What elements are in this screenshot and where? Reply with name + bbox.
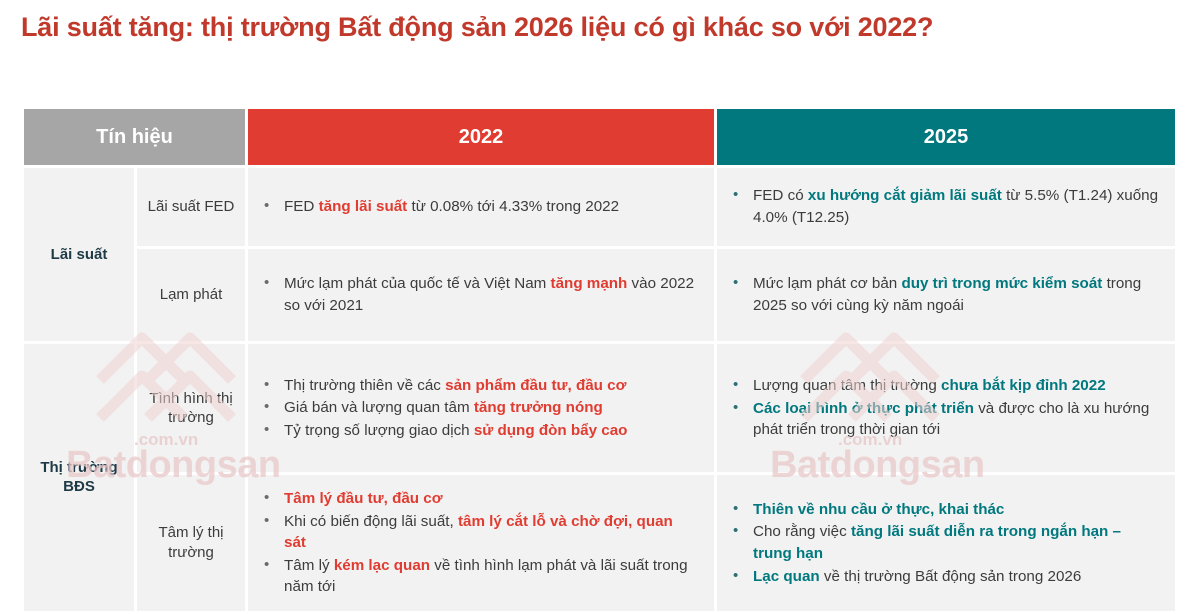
cell-2025: Lượng quan tâm thị trường chưa bắt kịp đ… xyxy=(717,344,1175,472)
bullet-item: Tâm lý kém lạc quan về tình hình lạm phá… xyxy=(258,555,698,598)
bullet-list: Tâm lý đầu tư, đầu cơKhi có biến động lã… xyxy=(258,488,698,598)
header-row: Tín hiệu 2022 2025 xyxy=(24,109,1175,165)
cell-2022: Mức lạm phát của quốc tế và Việt Nam tăn… xyxy=(248,249,714,341)
signal-label-cell: Tình hình thị trường xyxy=(137,344,245,472)
highlighted-text: tăng trưởng nóng xyxy=(474,399,603,416)
highlighted-text: tâm lý cắt lỗ và chờ đợi, quan sát xyxy=(284,513,673,552)
highlighted-text: sản phẩm đầu tư, đầu cơ xyxy=(445,377,626,394)
bullet-item: Mức lạm phát của quốc tế và Việt Nam tăn… xyxy=(258,273,698,316)
bullet-list: FED có xu hướng cắt giảm lãi suất từ 5.5… xyxy=(727,185,1159,228)
signal-label-cell: Tâm lý thị trường xyxy=(137,475,245,611)
highlighted-text: tăng lãi suất xyxy=(319,198,408,215)
highlighted-text: sử dụng đòn bẩy cao xyxy=(474,422,628,439)
bullet-item: Khi có biến động lãi suất, tâm lý cắt lỗ… xyxy=(258,511,698,554)
table-row: Tâm lý thị trườngTâm lý đầu tư, đầu cơKh… xyxy=(24,475,1175,611)
bullet-item: Các loại hình ở thực phát triển và được … xyxy=(727,398,1159,441)
bullet-list: Lượng quan tâm thị trường chưa bắt kịp đ… xyxy=(727,375,1159,441)
highlighted-text: Thiên về nhu cầu ở thực, khai thác xyxy=(753,501,1004,518)
highlighted-text: Các loại hình ở thực phát triển xyxy=(753,400,974,417)
bullet-item: FED có xu hướng cắt giảm lãi suất từ 5.5… xyxy=(727,185,1159,228)
bullet-item: Cho rằng việc tăng lãi suất diễn ra tron… xyxy=(727,521,1159,564)
group-label-cell: Thị trường BĐS xyxy=(24,344,134,611)
bullet-list: Thị trường thiên về các sản phẩm đầu tư,… xyxy=(258,375,698,442)
highlighted-text: Lạc quan xyxy=(753,568,820,585)
bullet-item: Giá bán và lượng quan tâm tăng trưởng nó… xyxy=(258,397,698,419)
header-signal: Tín hiệu xyxy=(24,109,245,165)
cell-2022: Tâm lý đầu tư, đầu cơKhi có biến động lã… xyxy=(248,475,714,611)
header-2025: 2025 xyxy=(717,109,1175,165)
highlighted-text: duy trì trong mức kiểm soát xyxy=(901,275,1102,292)
highlighted-text: chưa bắt kịp đỉnh 2022 xyxy=(941,377,1106,394)
group-label-cell: Lãi suất xyxy=(24,168,134,341)
bullet-item: FED tăng lãi suất từ 0.08% tới 4.33% tro… xyxy=(258,196,698,218)
cell-2022: Thị trường thiên về các sản phẩm đầu tư,… xyxy=(248,344,714,472)
signal-label-cell: Lãi suất FED xyxy=(137,168,245,246)
bullet-item: Lượng quan tâm thị trường chưa bắt kịp đ… xyxy=(727,375,1159,397)
highlighted-text: xu hướng cắt giảm lãi suất xyxy=(808,187,1002,204)
highlighted-text: tăng lãi suất diễn ra trong ngắn hạn – t… xyxy=(753,523,1121,562)
bullet-list: Mức lạm phát của quốc tế và Việt Nam tăn… xyxy=(258,273,698,316)
table-row: Lạm phátMức lạm phát của quốc tế và Việt… xyxy=(24,249,1175,341)
bullet-item: Thị trường thiên về các sản phẩm đầu tư,… xyxy=(258,375,698,397)
cell-2025: Thiên về nhu cầu ở thực, khai thácCho rằ… xyxy=(717,475,1175,611)
bullet-list: Thiên về nhu cầu ở thực, khai thácCho rằ… xyxy=(727,499,1159,587)
highlighted-text: tăng mạnh xyxy=(551,275,628,292)
page-title: Lãi suất tăng: thị trường Bất động sản 2… xyxy=(21,12,1171,43)
table-row: Lãi suấtLãi suất FEDFED tăng lãi suất từ… xyxy=(24,168,1175,246)
table-body: Lãi suấtLãi suất FEDFED tăng lãi suất từ… xyxy=(24,168,1175,611)
cell-2025: Mức lạm phát cơ bản duy trì trong mức ki… xyxy=(717,249,1175,341)
bullet-item: Lạc quan về thị trường Bất động sản tron… xyxy=(727,566,1159,588)
bullet-item: Tâm lý đầu tư, đầu cơ xyxy=(258,488,698,510)
comparison-table: Tín hiệu 2022 2025 Lãi suấtLãi suất FEDF… xyxy=(21,106,1178,614)
bullet-item: Tỷ trọng số lượng giao dịch sử dụng đòn … xyxy=(258,420,698,442)
bullet-item: Mức lạm phát cơ bản duy trì trong mức ki… xyxy=(727,273,1159,316)
cell-2025: FED có xu hướng cắt giảm lãi suất từ 5.5… xyxy=(717,168,1175,246)
table-header: Tín hiệu 2022 2025 xyxy=(24,109,1175,165)
highlighted-text: Tâm lý đầu tư, đầu cơ xyxy=(284,490,443,507)
header-2022: 2022 xyxy=(248,109,714,165)
signal-label-cell: Lạm phát xyxy=(137,249,245,341)
table-row: Thị trường BĐSTình hình thị trườngThị tr… xyxy=(24,344,1175,472)
bullet-item: Thiên về nhu cầu ở thực, khai thác xyxy=(727,499,1159,521)
bullet-list: Mức lạm phát cơ bản duy trì trong mức ki… xyxy=(727,273,1159,316)
bullet-list: FED tăng lãi suất từ 0.08% tới 4.33% tro… xyxy=(258,196,698,218)
cell-2022: FED tăng lãi suất từ 0.08% tới 4.33% tro… xyxy=(248,168,714,246)
highlighted-text: kém lạc quan xyxy=(334,557,430,574)
